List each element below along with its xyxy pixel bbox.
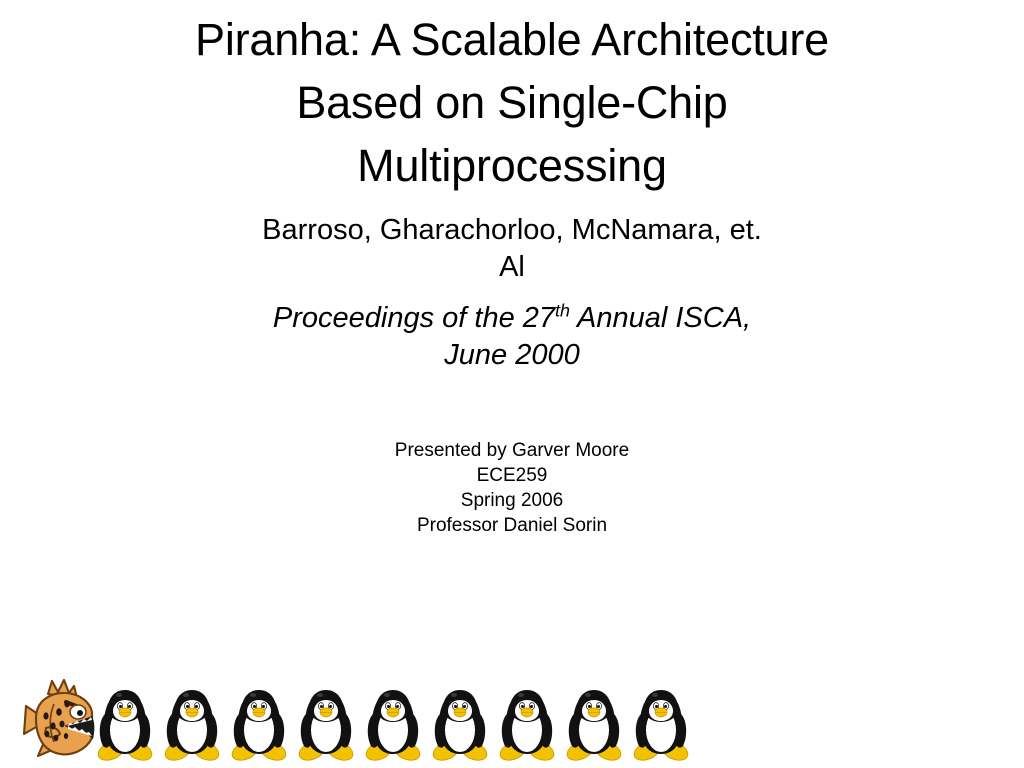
- linux-tux-penguin-icon: [363, 684, 423, 764]
- slide-title: Piranha: A Scalable Architecture Based o…: [62, 8, 962, 197]
- title-line-1: Piranha: A Scalable Architecture: [62, 8, 962, 71]
- presenter-name: Presented by Garver Moore: [262, 438, 762, 463]
- citation-line-2: June 2000: [150, 337, 874, 374]
- linux-tux-penguin-icon: [296, 684, 356, 764]
- citation-prefix: Proceedings of the 27: [273, 302, 555, 334]
- author-line-2: Al: [150, 249, 874, 286]
- linux-tux-penguin-icon: [497, 684, 557, 764]
- citation-superscript: th: [555, 300, 570, 320]
- term: Spring 2006: [262, 488, 762, 513]
- linux-tux-penguin-icon: [430, 684, 490, 764]
- linux-tux-penguin-icon: [162, 684, 222, 764]
- citation-line-1: Proceedings of the 27th Annual ISCA,: [150, 300, 874, 337]
- piranha-fish-icon: [22, 676, 96, 764]
- linux-tux-penguin-icon: [564, 684, 624, 764]
- presentation-slide: Piranha: A Scalable Architecture Based o…: [0, 0, 1024, 768]
- title-line-3: Multiprocessing: [62, 134, 962, 197]
- course-code: ECE259: [262, 463, 762, 488]
- presenter-info: Presented by Garver Moore ECE259 Spring …: [262, 438, 762, 538]
- author-line-1: Barroso, Gharachorloo, McNamara, et.: [150, 212, 874, 249]
- title-line-2: Based on Single-Chip: [62, 71, 962, 134]
- linux-tux-penguin-icon: [229, 684, 289, 764]
- bottom-graphics-strip: [0, 668, 1024, 768]
- professor-name: Professor Daniel Sorin: [262, 513, 762, 538]
- slide-subtitle: Barroso, Gharachorloo, McNamara, et. Al …: [150, 212, 874, 374]
- citation-suffix: Annual ISCA,: [570, 302, 751, 334]
- linux-tux-penguin-icon: [95, 684, 155, 764]
- linux-tux-penguin-icon: [631, 684, 691, 764]
